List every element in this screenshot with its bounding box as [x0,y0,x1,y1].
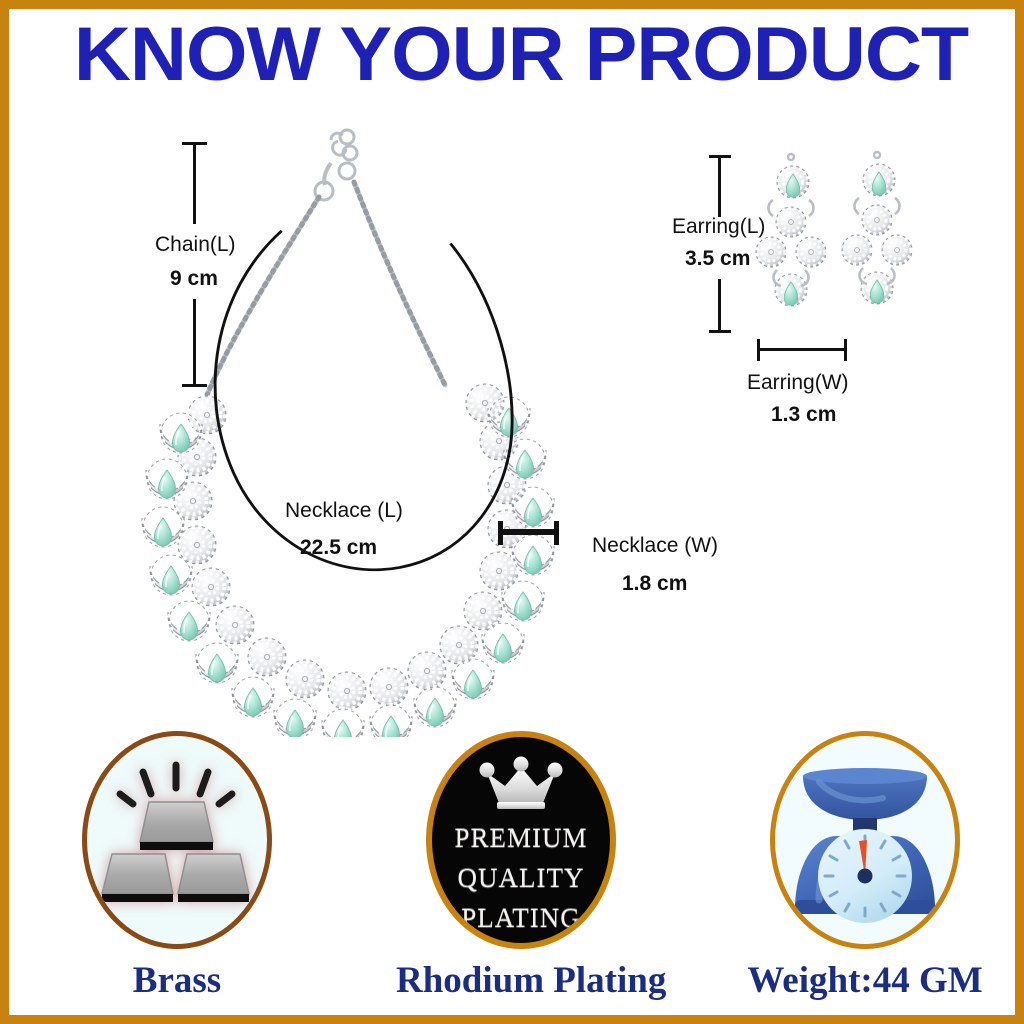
crown-icon [477,753,565,815]
page-title: KNOW YOUR PRODUCT [0,15,1024,95]
necklace-length-value: 22.5 cm [300,536,377,560]
necklace-chain [207,130,445,395]
earring-width-value: 1.3 cm [771,403,836,427]
feature-brass: Brass [52,731,302,1002]
earring-right [842,152,912,304]
earring-length-label: Earring(L) [672,215,765,239]
necklace-length-label: Necklace (L) [285,499,403,523]
necklace-collar [142,384,554,737]
premium-line-3: PLATING [432,903,610,934]
weighing-scale-icon [775,736,955,944]
metal-ingots-icon [87,736,267,944]
chain-length-value: 9 cm [170,267,218,291]
infographic-page: KNOW YOUR PRODUCT [0,0,1024,1024]
feature-rhodium-plating: PREMIUM QUALITY PLATING Rhodium Plating [396,731,646,1002]
chain-length-label: Chain(L) [155,233,236,257]
necklace-width-value: 1.8 cm [622,572,687,596]
earring-left [756,154,826,306]
premium-line-2: QUALITY [432,863,610,894]
rhodium-plating-label: Rhodium Plating [396,959,646,1002]
brass-label: Brass [52,959,302,1002]
feature-weight: Weight:44 GM [740,731,990,1002]
brass-badge [82,731,272,949]
earring-width-label: Earring(W) [747,371,849,395]
earrings-illustration [749,144,929,344]
weight-label: Weight:44 GM [740,959,990,1002]
premium-line-1: PREMIUM [432,823,610,854]
premium-quality-badge: PREMIUM QUALITY PLATING [426,731,616,949]
weight-badge [770,731,960,949]
earring-length-value: 3.5 cm [685,247,750,271]
necklace-width-label: Necklace (W) [592,534,718,558]
